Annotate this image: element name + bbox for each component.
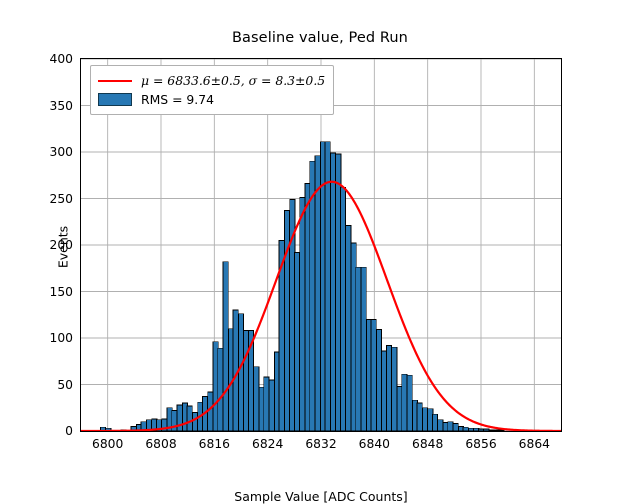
histogram-bar: [392, 347, 397, 431]
histogram-bar: [422, 408, 427, 431]
histogram-bar: [494, 430, 499, 431]
histogram-bar: [499, 430, 504, 431]
histogram-bar: [478, 429, 483, 431]
histogram-bar: [386, 345, 391, 431]
histogram-bar: [192, 412, 197, 431]
y-tick-label: 50: [13, 378, 73, 392]
histogram-bar: [264, 377, 269, 431]
histogram-bar: [315, 156, 320, 431]
histogram-bar: [269, 380, 274, 431]
y-tick-label: 100: [13, 331, 73, 345]
histogram-bar: [330, 153, 335, 431]
figure-canvas: Baseline value, Ped Run Events Sample Va…: [0, 0, 640, 480]
histogram-bar: [294, 252, 299, 431]
y-tick-label: 200: [13, 238, 73, 252]
histogram-bar: [346, 225, 351, 431]
y-tick-label: 150: [13, 285, 73, 299]
chart-title: Baseline value, Ped Run: [0, 30, 640, 46]
histogram-bar: [432, 414, 437, 431]
x-axis-label: Sample Value [ADC Counts]: [81, 489, 561, 504]
histogram-bar: [438, 420, 443, 431]
histogram-bar: [356, 267, 361, 431]
legend-line-handle-icon: [98, 74, 132, 88]
legend-label-rms: RMS = 9.74: [141, 92, 214, 107]
histogram-bar: [238, 314, 243, 431]
legend-patch-handle-icon: [98, 93, 132, 106]
y-tick-label: 250: [13, 192, 73, 206]
histogram-bar: [371, 319, 376, 431]
y-tick-label: 350: [13, 99, 73, 113]
histogram-bar: [453, 424, 458, 431]
legend-entry-rms: RMS = 9.74: [98, 90, 325, 109]
histogram-bar: [254, 367, 259, 431]
legend-box: μ = 6833.6±0.5, σ = 8.3±0.5 RMS = 9.74: [90, 65, 334, 115]
histogram-bar: [484, 429, 489, 431]
histogram-bar: [417, 403, 422, 431]
histogram-bar: [407, 375, 412, 431]
histogram-bar: [402, 374, 407, 431]
y-tick-label: 400: [13, 52, 73, 66]
histogram-bar: [177, 405, 182, 431]
histogram-bar: [187, 406, 192, 431]
histogram-bar: [300, 198, 305, 431]
histogram-bar: [361, 267, 366, 431]
histogram-bar: [463, 427, 468, 431]
histogram-bar: [340, 187, 345, 431]
y-tick-label: 0: [13, 424, 73, 438]
histogram-bar: [376, 330, 381, 431]
x-tick-label: 6864: [499, 437, 569, 451]
legend-entry-fit: μ = 6833.6±0.5, σ = 8.3±0.5: [98, 71, 325, 90]
histogram-bar: [310, 161, 315, 431]
histogram-bar: [223, 262, 228, 431]
histogram-bar: [468, 428, 473, 431]
plot-area: Events Sample Value [ADC Counts] 0501001…: [80, 58, 562, 432]
legend-label-fit: μ = 6833.6±0.5, σ = 8.3±0.5: [141, 73, 325, 88]
histogram-bar: [218, 348, 223, 431]
histogram-bar: [325, 142, 330, 431]
y-tick-label: 300: [13, 145, 73, 159]
histogram-bar: [448, 422, 453, 431]
